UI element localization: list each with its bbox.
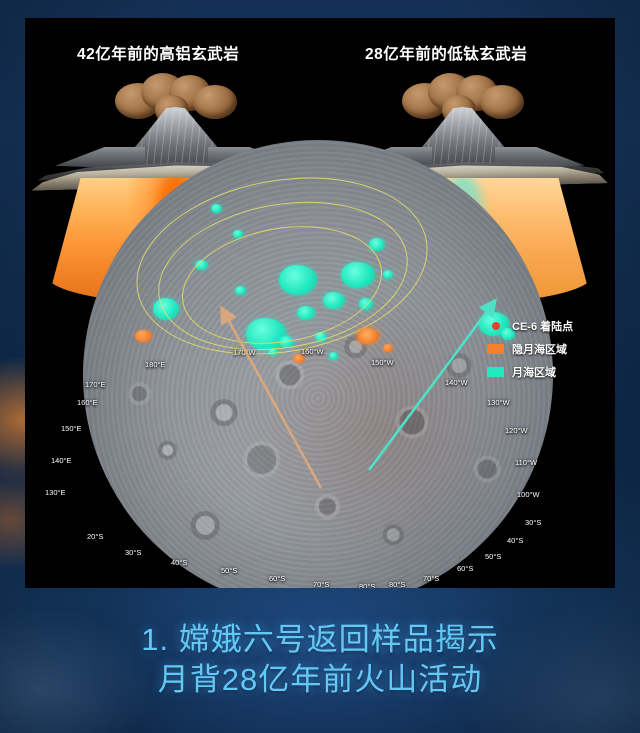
- heading-high-alumina-basalt: 42亿年前的高铝玄武岩: [77, 42, 239, 64]
- grid-label: 70°S: [423, 574, 439, 583]
- legend-swatch-icon: [487, 344, 504, 354]
- grid-label: 80°S: [359, 582, 375, 588]
- grid-label: 170°E: [85, 380, 106, 389]
- grid-label: 50°S: [485, 552, 501, 561]
- legend-label: 隐月海区域: [512, 341, 567, 357]
- legend-item-2[interactable]: 月海区域: [487, 364, 605, 380]
- figure-panel: 42亿年前的高铝玄武岩 28亿年前的低钛玄武岩 富集KREEP组分: [25, 18, 615, 588]
- legend-item-0[interactable]: CE-6 着陆点: [487, 318, 605, 334]
- grid-label: 170°W: [233, 348, 256, 357]
- grid-label: 140°W: [445, 378, 468, 387]
- caption-line-1: 1. 嫦娥六号返回样品揭示: [0, 620, 640, 660]
- map-legend: CE-6 着陆点隐月海区域月海区域: [487, 318, 605, 387]
- legend-item-1[interactable]: 隐月海区域: [487, 341, 605, 357]
- grid-label: 160°W: [301, 347, 324, 356]
- grid-label: 100°W: [517, 490, 540, 499]
- grid-label: 180°E: [145, 360, 166, 369]
- grid-label: 120°W: [505, 426, 528, 435]
- caption-line-2: 月背28亿年前火山活动: [0, 660, 640, 700]
- grid-label: 30°S: [125, 548, 141, 557]
- grid-label: 60°S: [269, 574, 285, 583]
- grid-label: 150°E: [61, 424, 82, 433]
- legend-swatch-icon: [492, 322, 500, 330]
- grid-label: 40°S: [507, 536, 523, 545]
- grid-label: 70°S: [313, 580, 329, 588]
- grid-label: 50°S: [221, 566, 237, 575]
- legend-label: 月海区域: [512, 364, 556, 380]
- legend-swatch-icon: [487, 367, 504, 377]
- grid-label: 130°W: [487, 398, 510, 407]
- grid-label: 80°S: [389, 580, 405, 588]
- grid-label: 160°E: [77, 398, 98, 407]
- grid-label: 40°S: [171, 558, 187, 567]
- grid-label: 30°S: [525, 518, 541, 527]
- grid-label: 60°S: [457, 564, 473, 573]
- heading-low-titanium-basalt: 28亿年前的低钛玄武岩: [365, 42, 527, 64]
- grid-label: 140°E: [51, 456, 72, 465]
- legend-label: CE-6 着陆点: [512, 318, 573, 334]
- grid-label: 150°W: [371, 358, 394, 367]
- grid-label: 110°W: [515, 458, 537, 467]
- grid-label: 20°S: [87, 532, 103, 541]
- cryptomare-patch: [135, 330, 152, 342]
- cryptomare-patch: [383, 344, 393, 352]
- caption-block: 1. 嫦娥六号返回样品揭示 月背28亿年前火山活动: [0, 620, 640, 701]
- grid-label: 130°E: [45, 488, 66, 497]
